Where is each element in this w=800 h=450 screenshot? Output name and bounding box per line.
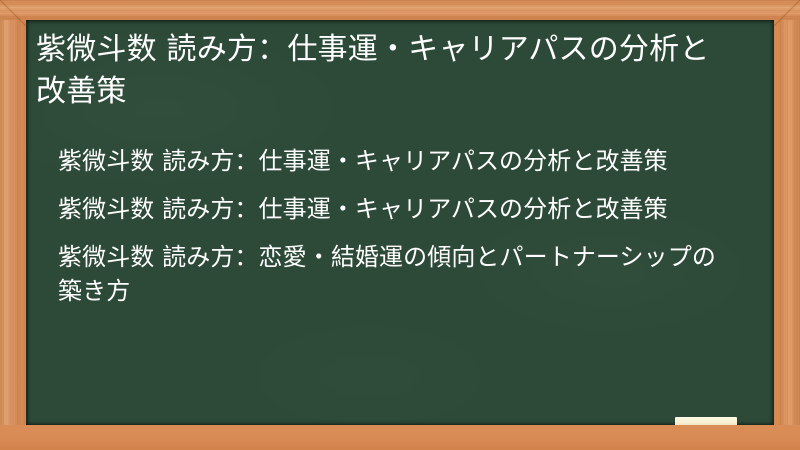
chalk-stick — [675, 417, 737, 425]
article-list: 紫微斗数 読み方：仕事運・キャリアパスの分析と改善策 紫微斗数 読み方：仕事運・… — [58, 144, 730, 308]
wooden-frame-bottom-ledge — [0, 425, 800, 450]
list-item[interactable]: 紫微斗数 読み方：仕事運・キャリアパスの分析と改善策 — [58, 144, 730, 178]
chalkboard-graphic: 紫微斗数 読み方：仕事運・キャリアパスの分析と改善策 紫微斗数 読み方：仕事運・… — [0, 0, 800, 450]
wooden-frame-top-rail — [0, 0, 800, 20]
list-item[interactable]: 紫微斗数 読み方：恋愛・結婚運の傾向とパートナーシップの築き方 — [58, 240, 730, 308]
list-item[interactable]: 紫微斗数 読み方：仕事運・キャリアパスの分析と改善策 — [58, 192, 730, 226]
chalkboard-surface: 紫微斗数 読み方：仕事運・キャリアパスの分析と改善策 紫微斗数 読み方：仕事運・… — [26, 20, 774, 425]
page-title: 紫微斗数 読み方：仕事運・キャリアパスの分析と改善策 — [36, 29, 736, 113]
